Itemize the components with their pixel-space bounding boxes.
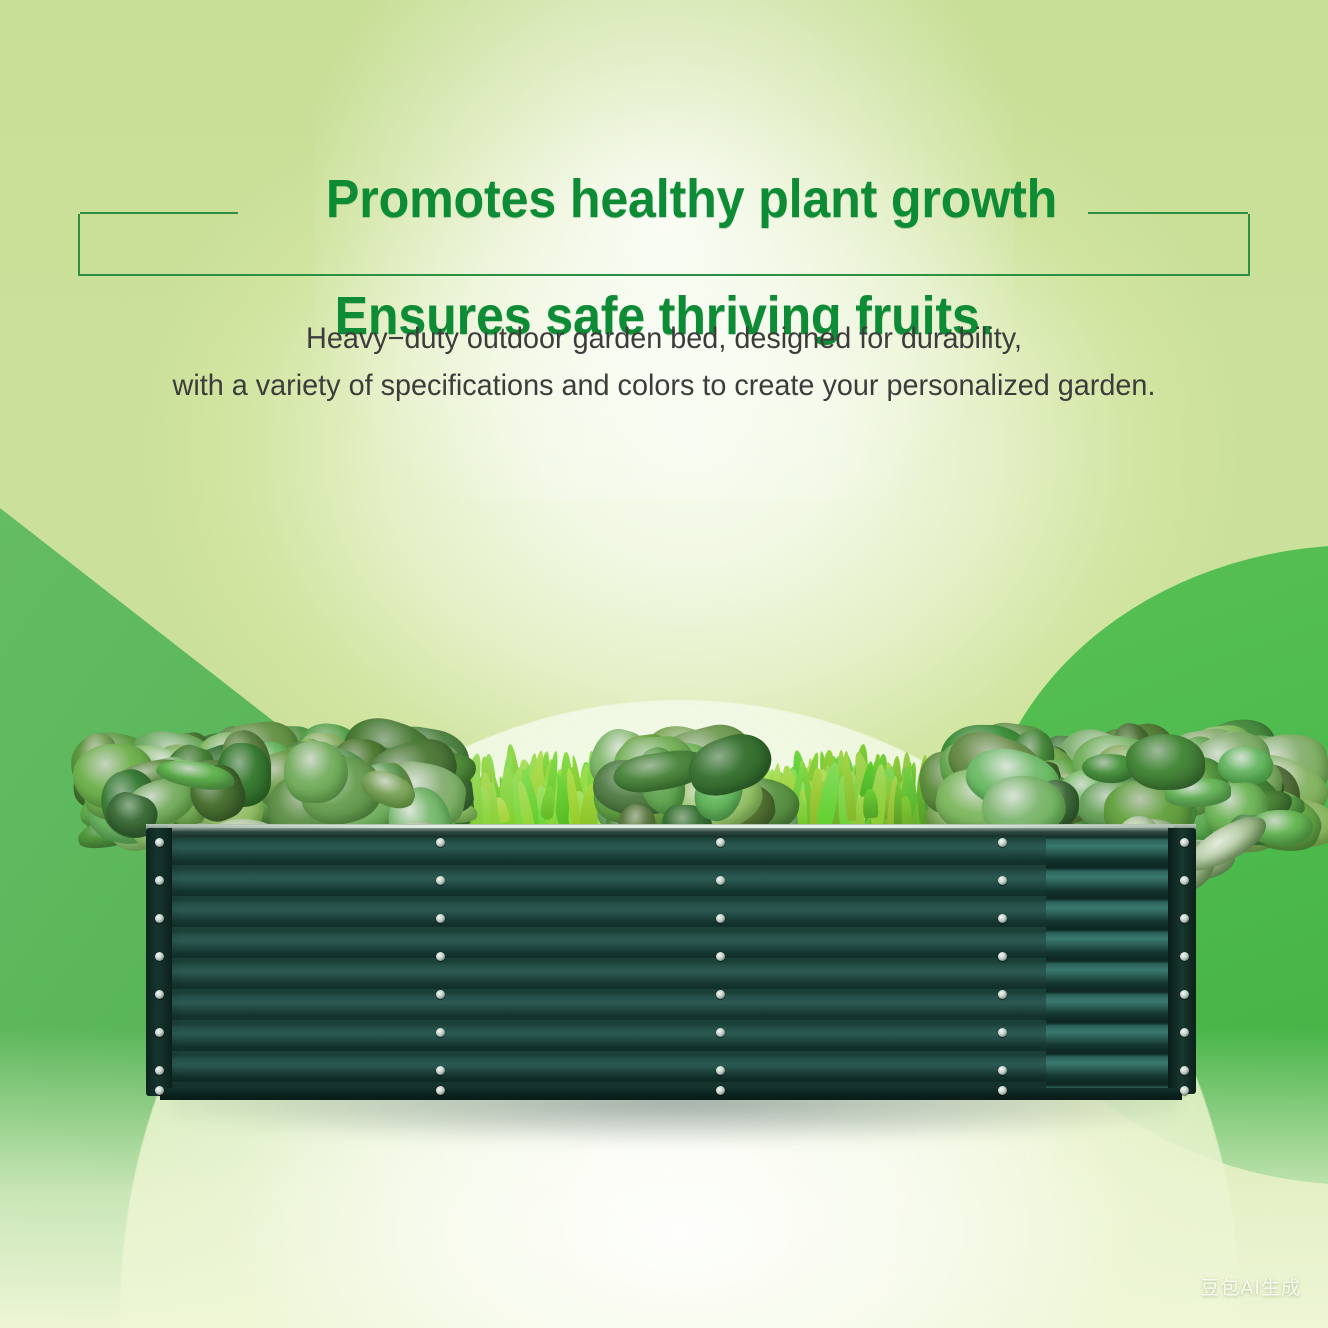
screw [998, 914, 1007, 923]
foliage-plants [85, 688, 1215, 840]
screw [436, 876, 445, 885]
screw [1180, 914, 1189, 923]
planter-corner-post-right [1168, 828, 1196, 1094]
screw [436, 914, 445, 923]
screw [998, 952, 1007, 961]
screw [716, 1028, 725, 1037]
screw [716, 876, 725, 885]
screw [436, 1066, 445, 1075]
screw [1180, 990, 1189, 999]
planter-corrugated-face [164, 834, 1178, 1092]
screw [1180, 952, 1189, 961]
screw [998, 990, 1007, 999]
screw [1180, 1086, 1189, 1095]
screw [155, 838, 164, 847]
planter-corner-post-left [146, 828, 172, 1096]
screw [716, 1066, 725, 1075]
screw [436, 838, 445, 847]
screw [716, 990, 725, 999]
screw [716, 952, 725, 961]
screw [436, 990, 445, 999]
planter-corrugated-end-panel [1046, 834, 1178, 1092]
screw [155, 1086, 164, 1095]
screw [716, 914, 725, 923]
screw [155, 1028, 164, 1037]
screw [155, 990, 164, 999]
screw [155, 876, 164, 885]
screw [998, 876, 1007, 885]
screw [436, 952, 445, 961]
screw [1180, 876, 1189, 885]
watermark: 豆包AI生成 [1200, 1273, 1301, 1300]
screw [436, 1028, 445, 1037]
planter-bottom-lip [160, 1088, 1182, 1100]
screw [1180, 1028, 1189, 1037]
screw [155, 914, 164, 923]
screw [998, 1086, 1007, 1095]
product-image-raised-garden-bed [0, 0, 1328, 1328]
screw [436, 1086, 445, 1095]
promo-banner: Promotes healthy plant growth Ensures sa… [0, 0, 1328, 1328]
screw [998, 1028, 1007, 1037]
screw [1180, 1066, 1189, 1075]
screw [155, 952, 164, 961]
screw [155, 1066, 164, 1075]
screw [716, 1086, 725, 1095]
screw [1180, 838, 1189, 847]
planter-top-rim [146, 824, 1196, 837]
screw [998, 1066, 1007, 1075]
screw [716, 838, 725, 847]
planter-box [146, 824, 1196, 1096]
screw [998, 838, 1007, 847]
